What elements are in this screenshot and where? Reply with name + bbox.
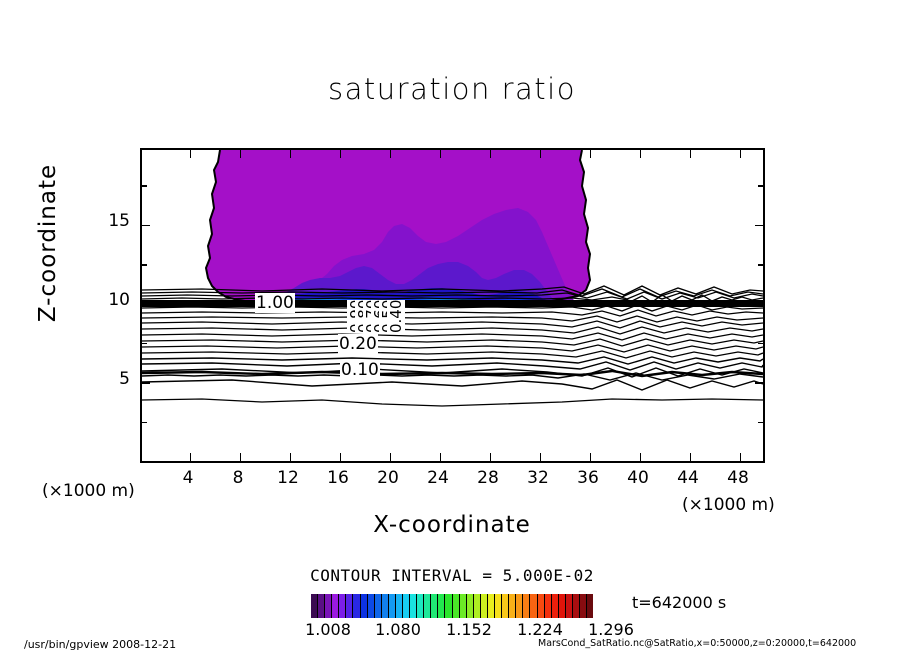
x-tick-top [240, 150, 242, 158]
x-tick-label: 32 [518, 468, 558, 488]
colorbar-cell-21 [460, 594, 467, 618]
colorbar-tick-label: 1.080 [363, 620, 433, 639]
y-tick-minor [142, 343, 147, 345]
x-tick-major [340, 453, 342, 461]
colorbar-cell-29 [516, 594, 523, 618]
colorbar-cell-11 [389, 594, 396, 618]
colorbar-cell-27 [502, 594, 509, 618]
colorbar-tick-label: 1.008 [293, 620, 363, 639]
colorbar-cell-33 [545, 594, 552, 618]
colorbar-cell-14 [410, 594, 417, 618]
contour-label-0-10: 0.10 [340, 360, 380, 380]
x-tick-top [190, 150, 192, 158]
colorbar-cell-7 [361, 594, 368, 618]
contour-label-1-00: 1.00 [255, 293, 295, 313]
colorbar-cell-36 [566, 594, 573, 618]
colorbar-cell-31 [530, 594, 537, 618]
y-tick-label: 10 [88, 290, 130, 310]
y-tick-right-minor [758, 422, 763, 424]
x-tick-label: 24 [418, 468, 458, 488]
x-tick-top [340, 150, 342, 158]
x-tick-top [290, 150, 292, 158]
x-tick-major [540, 453, 542, 461]
colorbar-cell-26 [495, 594, 502, 618]
colorbar-cell-10 [382, 594, 389, 618]
colorbar-cell-15 [417, 594, 424, 618]
contour-lowest [142, 399, 763, 406]
x-tick-major [390, 453, 392, 461]
x-tick-top [740, 150, 742, 158]
colorbar-cell-1 [318, 594, 325, 618]
x-tick-label: 8 [218, 468, 258, 488]
y-tick-right-minor [758, 185, 763, 187]
contour-interval-caption: CONTOUR INTERVAL = 5.000E-02 [0, 566, 904, 585]
colorbar-labels: 1.008 1.080 1.152 1.224 1.296 [293, 620, 611, 640]
colorbar-gradient [311, 594, 593, 618]
y-tick-right-minor [758, 264, 763, 266]
contour-label-0-20: 0.20 [338, 334, 378, 354]
colorbar-cell-2 [325, 594, 332, 618]
x-tick-top [590, 150, 592, 158]
footer-command: /usr/bin/gpview 2008-12-21 [24, 638, 176, 651]
x-tick-top [390, 150, 392, 158]
colorbar-cell-3 [332, 594, 339, 618]
y-tick-minor [142, 422, 147, 424]
colorbar-cell-37 [573, 594, 580, 618]
colorbar-cell-0 [311, 594, 318, 618]
colorbar-cell-18 [438, 594, 445, 618]
y-tick-minor [142, 264, 147, 266]
page-title: saturation ratio [0, 72, 904, 106]
colorbar-cell-16 [424, 594, 431, 618]
colorbar-cell-22 [467, 594, 474, 618]
x-axis-title: X-coordinate [0, 512, 904, 538]
y-tick-major [142, 304, 150, 306]
colorbar-cell-6 [353, 594, 360, 618]
y-tick-label: 5 [88, 369, 130, 389]
x-tick-label: 44 [668, 468, 708, 488]
contour-plot-svg [142, 150, 763, 461]
x-tick-major [740, 453, 742, 461]
x-tick-major [440, 453, 442, 461]
colorbar-cell-19 [445, 594, 452, 618]
y-tick-right [755, 225, 763, 227]
x-tick-major [240, 453, 242, 461]
x-tick-label: 20 [368, 468, 408, 488]
time-annotation: t=642000 s [632, 593, 726, 612]
footer-dataset: MarsCond_SatRatio.nc@SatRatio,x=0:50000,… [538, 638, 856, 649]
colorbar-tick-label: 1.296 [576, 620, 646, 639]
x-tick-major [190, 453, 192, 461]
x-tick-label: 36 [568, 468, 608, 488]
x-tick-major [640, 453, 642, 461]
y-tick-right [755, 304, 763, 306]
x-unit-left: (×1000 m) [42, 481, 135, 501]
colorbar-cell-25 [488, 594, 495, 618]
colorbar-cell-34 [552, 594, 559, 618]
colorbar [311, 594, 593, 618]
y-tick-minor [142, 185, 147, 187]
x-tick-major [290, 453, 292, 461]
y-axis-title: Z-coordinate [35, 133, 61, 353]
x-tick-top [490, 150, 492, 158]
colorbar-cell-20 [453, 594, 460, 618]
colorbar-cell-38 [580, 594, 587, 618]
plot-frame [140, 148, 765, 463]
colorbar-cell-12 [396, 594, 403, 618]
x-tick-top [640, 150, 642, 158]
colorbar-cell-32 [538, 594, 545, 618]
contour-label-0-40: 0.40 [387, 300, 405, 333]
y-tick-major [142, 382, 150, 384]
colorbar-cell-9 [375, 594, 382, 618]
x-tick-top [690, 150, 692, 158]
x-tick-top [540, 150, 542, 158]
x-tick-label: 16 [318, 468, 358, 488]
colorbar-cell-23 [474, 594, 481, 618]
x-tick-major [590, 453, 592, 461]
x-tick-major [690, 453, 692, 461]
y-tick-major [142, 225, 150, 227]
colorbar-cell-13 [403, 594, 410, 618]
colorbar-tick-label: 1.224 [505, 620, 575, 639]
colorbar-cell-39 [587, 594, 593, 618]
colorbar-cell-5 [346, 594, 353, 618]
colorbar-cell-28 [509, 594, 516, 618]
colorbar-cell-8 [368, 594, 375, 618]
x-tick-label: 12 [268, 468, 308, 488]
colorbar-cell-35 [559, 594, 566, 618]
colorbar-tick-label: 1.152 [434, 620, 504, 639]
colorbar-cell-4 [339, 594, 346, 618]
colorbar-cell-17 [431, 594, 438, 618]
plot-canvas [142, 150, 763, 461]
colorbar-cell-24 [481, 594, 488, 618]
x-tick-top [440, 150, 442, 158]
colorbar-cell-30 [523, 594, 530, 618]
x-tick-label: 4 [168, 468, 208, 488]
x-tick-label: 48 [718, 468, 758, 488]
x-tick-label: 28 [468, 468, 508, 488]
y-tick-right [755, 382, 763, 384]
y-tick-right-minor [758, 343, 763, 345]
x-tick-label: 40 [618, 468, 658, 488]
x-tick-major [490, 453, 492, 461]
y-tick-label: 15 [88, 211, 130, 231]
